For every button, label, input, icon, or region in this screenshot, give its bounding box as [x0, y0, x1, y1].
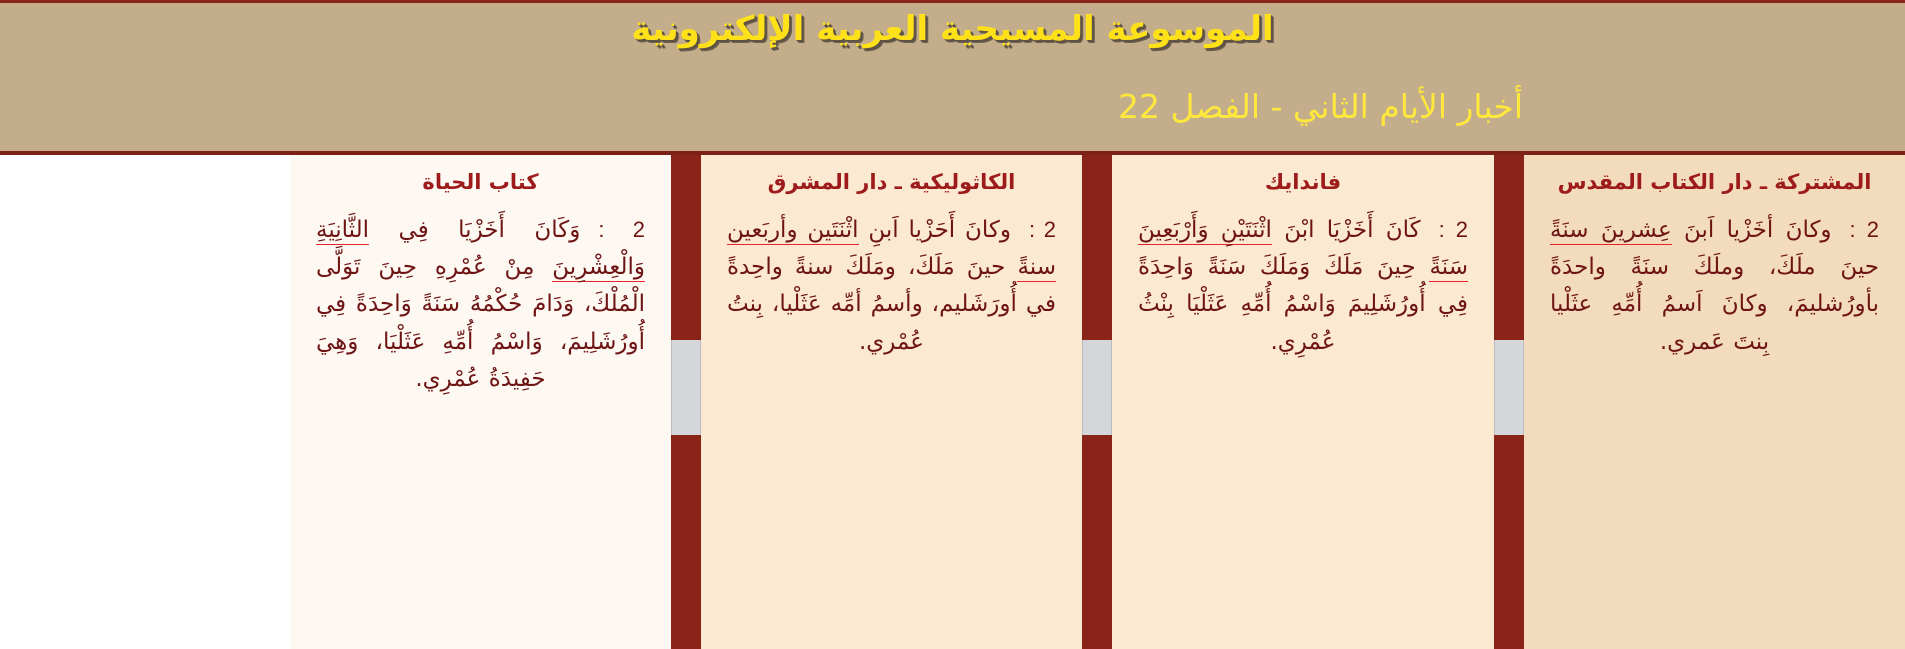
- chapter-subtitle: أخبار الأيام الثاني - الفصل 22: [1118, 87, 1523, 126]
- verse-highlight-sharika: عِشرينَ سنَةً: [1550, 217, 1672, 245]
- verse-number-catholic: 2 :: [1029, 217, 1056, 242]
- verse-text-before-catholic: وكانَ أَحَزْيا اَبنِ: [859, 217, 1011, 243]
- column-title-catholic: الكاثوليكية ـ دار المشرق: [727, 169, 1056, 196]
- translation-column-vandyke[interactable]: فاندايك 2 :كَانَ أَخَزْيَا ابْنَ اثْنَتَ…: [1112, 155, 1494, 649]
- verse-text-before-sharika: وكانَ أخَزْيا اَبنَ: [1672, 217, 1832, 243]
- verse-number-sharika: 2 :: [1850, 217, 1879, 242]
- scrollbar-track-2[interactable]: [1082, 155, 1112, 649]
- translation-column-kitab-alhayat[interactable]: كتاب الحياة 2 :وَكَانَ أَخَزْيَا فِي الث…: [290, 155, 671, 649]
- column-title-vandyke: فاندايك: [1138, 169, 1468, 196]
- verse-number-kitab-alhayat: 2 :: [598, 217, 645, 242]
- verse-text-after-vandyke: حِينَ مَلَكَ وَمَلَكَ سَنَةً وَاحِدَةً ف…: [1138, 254, 1468, 355]
- verse-text-before-kitab-alhayat: وَكَانَ أَخَزْيَا فِي: [369, 217, 580, 243]
- verse-block-vandyke: 2 :كَانَ أَخَزْيَا ابْنَ اثْنَتَيْنِ وَأ…: [1138, 212, 1468, 361]
- translation-columns: المشتركة ـ دار الكتاب المقدس 2 :وكانَ أخ…: [0, 155, 1905, 649]
- translation-column-catholic[interactable]: الكاثوليكية ـ دار المشرق 2 :وكانَ أَحَزْ…: [701, 155, 1082, 649]
- scrollbar-thumb-3[interactable]: [671, 340, 701, 435]
- page-title: الموسوعة المسيحية العربية الإلكترونية: [0, 9, 1905, 49]
- translation-column-sharika[interactable]: المشتركة ـ دار الكتاب المقدس 2 :وكانَ أخ…: [1524, 155, 1905, 649]
- scrollbar-track-3[interactable]: [671, 155, 701, 649]
- scrollbar-thumb-1[interactable]: [1494, 340, 1524, 435]
- column-title-kitab-alhayat: كتاب الحياة: [316, 169, 645, 196]
- verse-block-sharika: 2 :وكانَ أخَزْيا اَبنَ عِشرينَ سنَةً حين…: [1550, 212, 1879, 361]
- verse-text-before-vandyke: كَانَ أَخَزْيَا ابْنَ: [1272, 217, 1421, 243]
- verse-block-kitab-alhayat: 2 :وَكَانَ أَخَزْيَا فِي الثَّانِيَةِ وَ…: [316, 212, 645, 398]
- column-title-sharika: المشتركة ـ دار الكتاب المقدس: [1550, 169, 1879, 196]
- verse-text-after-catholic: حينَ مَلَكَ، ومَلَكَ سنةً واحِدةً في أُو…: [727, 254, 1056, 355]
- verse-text-after-sharika: حينَ ملَكَ، وملَكَ سنَةً واحدَةً بأورُشل…: [1550, 254, 1879, 355]
- scrollbar-track-1[interactable]: [1494, 155, 1524, 649]
- scrollbar-thumb-2[interactable]: [1082, 340, 1112, 435]
- verse-number-vandyke: 2 :: [1439, 217, 1468, 242]
- page-root: الموسوعة المسيحية العربية الإلكترونية أخ…: [0, 0, 1905, 649]
- verse-block-catholic: 2 :وكانَ أَحَزْيا اَبنِ اثْنَتَين وأربَع…: [727, 212, 1056, 361]
- site-banner: الموسوعة المسيحية العربية الإلكترونية أخ…: [0, 0, 1905, 155]
